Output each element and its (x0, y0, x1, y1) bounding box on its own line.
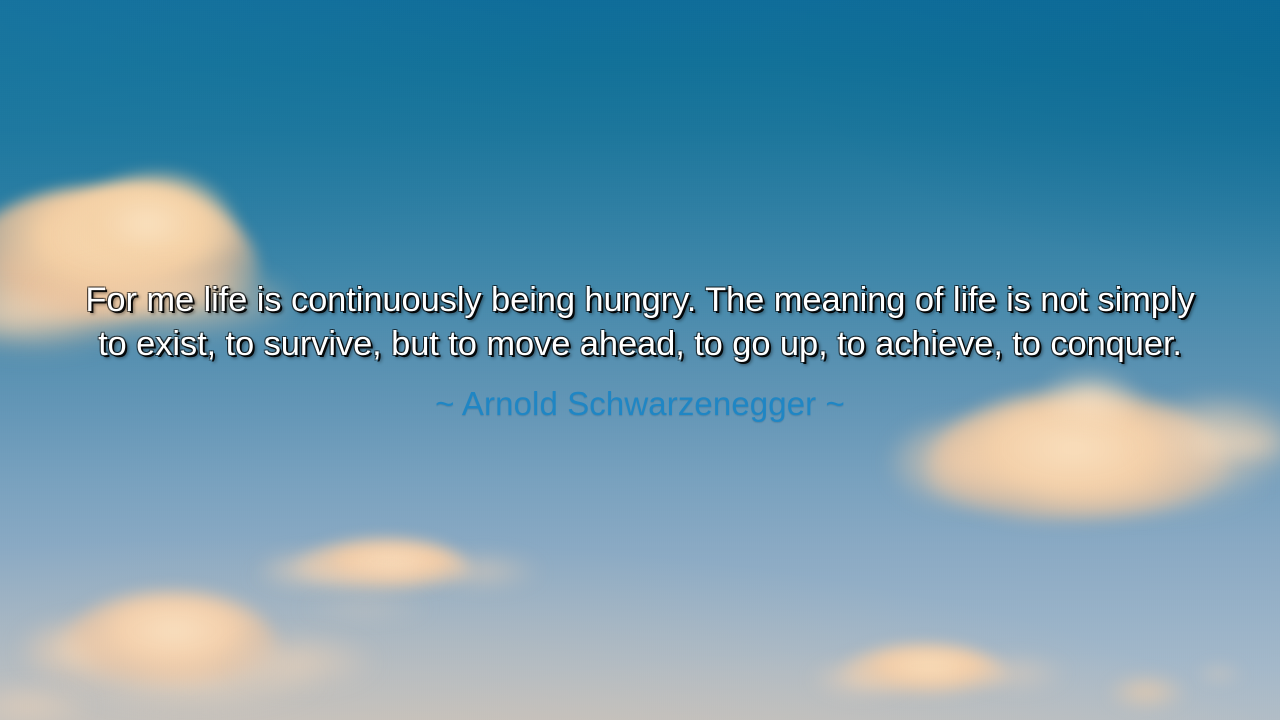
wallpaper-canvas: For me life is continuously being hungry… (0, 0, 1280, 720)
quote-attribution: ~ Arnold Schwarzenegger ~ (40, 384, 1240, 424)
quote-block: For me life is continuously being hungry… (0, 278, 1280, 424)
quote-text: For me life is continuously being hungry… (75, 278, 1205, 366)
